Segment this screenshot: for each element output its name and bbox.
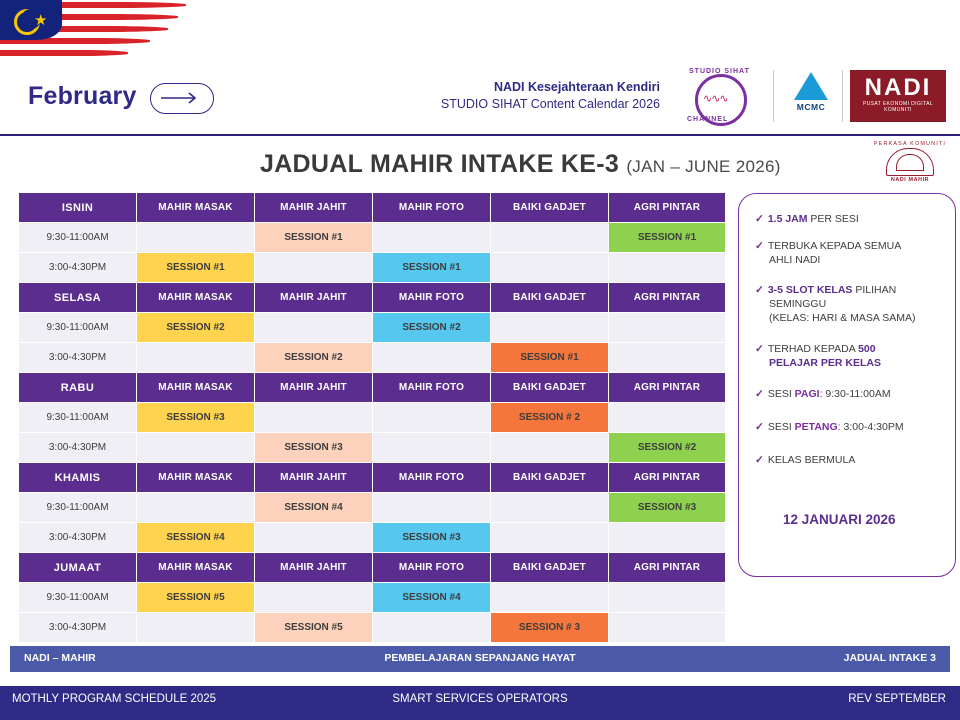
column-header-cell: MAHIR JAHIT xyxy=(255,463,373,493)
column-header-cell: BAIKI GADJET xyxy=(491,553,609,583)
empty-cell xyxy=(137,433,255,463)
empty-cell xyxy=(255,253,373,283)
time-cell: 3:00-4:30PM xyxy=(19,613,137,643)
header-title-line1: NADI Kesejahteraan Kendiri xyxy=(441,80,660,94)
day-header-cell: KHAMIS xyxy=(19,463,137,493)
pk-logo-bottom-text: NADI MAHIR xyxy=(868,177,952,183)
empty-cell xyxy=(373,433,491,463)
column-header-cell: MAHIR MASAK xyxy=(137,463,255,493)
bottom-status-bar: MOTHLY PROGRAM SCHEDULE 2025 SMART SERVI… xyxy=(0,686,960,720)
check-icon: ✓ xyxy=(755,343,764,355)
time-cell: 9:30-11:00AM xyxy=(19,403,137,433)
column-header-cell: MAHIR FOTO xyxy=(373,463,491,493)
slide-footer-mid: PEMBELAJARAN SEPANJANG HAYAT xyxy=(10,652,950,664)
column-header-cell: MAHIR FOTO xyxy=(373,193,491,223)
column-header-cell: BAIKI GADJET xyxy=(491,283,609,313)
session-cell[interactable]: SESSION #3 xyxy=(137,403,255,433)
empty-cell xyxy=(609,313,726,343)
column-header-cell: AGRI PINTAR xyxy=(609,193,726,223)
session-cell[interactable]: SESSION #3 xyxy=(373,523,491,553)
table-row: 9:30-11:00AMSESSION #4SESSION #3 xyxy=(19,493,726,523)
session-cell[interactable]: SESSION # 2 xyxy=(491,403,609,433)
column-header-cell: MAHIR FOTO xyxy=(373,373,491,403)
table-row: SELASAMAHIR MASAKMAHIR JAHITMAHIR FOTOBA… xyxy=(19,283,726,313)
session-cell[interactable]: SESSION #1 xyxy=(609,223,726,253)
empty-cell xyxy=(255,313,373,343)
empty-cell xyxy=(491,493,609,523)
note-item-2: ✓3-5 SLOT KELAS PILIHANSEMINGGU(KELAS: H… xyxy=(755,283,951,325)
session-cell[interactable]: SESSION #1 xyxy=(373,253,491,283)
next-month-button[interactable] xyxy=(150,83,214,114)
table-row: ISNINMAHIR MASAKMAHIR JAHITMAHIR FOTOBAI… xyxy=(19,193,726,223)
empty-cell xyxy=(255,523,373,553)
empty-cell xyxy=(137,613,255,643)
check-icon: ✓ xyxy=(755,213,764,225)
session-cell[interactable]: SESSION #3 xyxy=(255,433,373,463)
time-cell: 9:30-11:00AM xyxy=(19,493,137,523)
table-row: 9:30-11:00AMSESSION #3SESSION # 2 xyxy=(19,403,726,433)
session-cell[interactable]: SESSION #2 xyxy=(609,433,726,463)
studio-logo-bottom-text: CHANNEL xyxy=(687,116,728,123)
empty-cell xyxy=(373,493,491,523)
column-header-cell: AGRI PINTAR xyxy=(609,553,726,583)
slide-title: JADUAL MAHIR INTAKE KE-3 (JAN – JUNE 202… xyxy=(260,150,781,179)
logo-divider-2 xyxy=(842,70,843,122)
bottom-bar-mid: SMART SERVICES OPERATORS xyxy=(0,693,960,705)
perkasa-komuniti-logo: PERKASA KOMUNITI NADI MAHIR xyxy=(868,141,952,193)
check-icon: ✓ xyxy=(755,388,764,400)
column-header-cell: MAHIR JAHIT xyxy=(255,193,373,223)
table-row: 3:00-4:30PMSESSION #2SESSION #1 xyxy=(19,343,726,373)
time-cell: 3:00-4:30PM xyxy=(19,523,137,553)
time-cell: 3:00-4:30PM xyxy=(19,433,137,463)
column-header-cell: MAHIR MASAK xyxy=(137,373,255,403)
slide-title-sub: (JAN – JUNE 2026) xyxy=(626,157,780,176)
column-header-cell: MAHIR FOTO xyxy=(373,283,491,313)
mcmc-triangle-icon xyxy=(794,72,828,100)
empty-cell xyxy=(373,613,491,643)
time-cell: 3:00-4:30PM xyxy=(19,343,137,373)
check-icon: ✓ xyxy=(755,240,764,252)
session-cell[interactable]: SESSION #5 xyxy=(137,583,255,613)
empty-cell xyxy=(373,223,491,253)
note-item-4: ✓SESI PAGI: 9:30-11:00AM xyxy=(755,387,951,401)
column-header-cell: BAIKI GADJET xyxy=(491,193,609,223)
column-header-cell: AGRI PINTAR xyxy=(609,463,726,493)
session-cell[interactable]: SESSION #1 xyxy=(491,343,609,373)
column-header-cell: MAHIR MASAK xyxy=(137,193,255,223)
malaysia-flag-icon: ★ xyxy=(0,0,190,62)
note-item-6: ✓KELAS BERMULA xyxy=(755,453,951,467)
column-header-cell: MAHIR JAHIT xyxy=(255,373,373,403)
empty-cell xyxy=(137,493,255,523)
table-row: 3:00-4:30PMSESSION #5SESSION # 3 xyxy=(19,613,726,643)
slide-page: ★ February NADI Kesejahteraan Kendiri ST… xyxy=(0,0,960,720)
empty-cell xyxy=(491,223,609,253)
nadi-logo-main: NADI xyxy=(850,76,946,100)
empty-cell xyxy=(491,253,609,283)
session-cell[interactable]: SESSION #1 xyxy=(255,223,373,253)
empty-cell xyxy=(137,343,255,373)
table-row: RABUMAHIR MASAKMAHIR JAHITMAHIR FOTOBAIK… xyxy=(19,373,726,403)
column-header-cell: BAIKI GADJET xyxy=(491,373,609,403)
empty-cell xyxy=(137,223,255,253)
notes-card: ✓1.5 JAM PER SESI ✓TERBUKA KEPADA SEMUAA… xyxy=(738,193,956,577)
table-row: KHAMISMAHIR MASAKMAHIR JAHITMAHIR FOTOBA… xyxy=(19,463,726,493)
check-icon: ✓ xyxy=(755,454,764,466)
table-row: 9:30-11:00AMSESSION #2SESSION #2 xyxy=(19,313,726,343)
session-cell[interactable]: SESSION #4 xyxy=(137,523,255,553)
month-label: February xyxy=(28,82,137,111)
mcmc-logo: MCMC xyxy=(782,72,840,122)
note-item-5: ✓SESI PETANG: 3:00-4:30PM xyxy=(755,420,951,434)
studio-sihat-logo: STUDIO SIHAT ∿∿∿ CHANNEL xyxy=(683,68,767,124)
slide-footer: NADI – MAHIR PEMBELAJARAN SEPANJANG HAYA… xyxy=(10,646,950,672)
table-row: 3:00-4:30PMSESSION #4SESSION #3 xyxy=(19,523,726,553)
time-cell: 9:30-11:00AM xyxy=(19,583,137,613)
slide-footer-right: JADUAL INTAKE 3 xyxy=(844,652,936,664)
empty-cell xyxy=(609,523,726,553)
arrow-right-icon xyxy=(161,90,203,106)
day-header-cell: RABU xyxy=(19,373,137,403)
heartbeat-icon: ∿∿∿ xyxy=(703,92,728,105)
note-item-3: ✓TERHAD KEPADA 500PELAJAR PER KELAS xyxy=(755,342,951,370)
empty-cell xyxy=(255,583,373,613)
empty-cell xyxy=(609,343,726,373)
session-cell[interactable]: SESSION #2 xyxy=(255,343,373,373)
bottom-bar-right: REV SEPTEMBER xyxy=(848,693,946,705)
session-cell[interactable]: SESSION #5 xyxy=(255,613,373,643)
session-cell[interactable]: SESSION #4 xyxy=(373,583,491,613)
session-cell[interactable]: SESSION #4 xyxy=(255,493,373,523)
time-cell: 3:00-4:30PM xyxy=(19,253,137,283)
header-title: NADI Kesejahteraan Kendiri STUDIO SIHAT … xyxy=(441,80,660,111)
nadi-logo-sub: PUSAT EKONOMI DIGITAL KOMUNITI xyxy=(850,101,946,113)
check-icon: ✓ xyxy=(755,284,764,296)
empty-cell xyxy=(609,253,726,283)
slide-title-main: JADUAL MAHIR INTAKE KE-3 xyxy=(260,150,619,178)
time-cell: 9:30-11:00AM xyxy=(19,223,137,253)
table-row: 3:00-4:30PMSESSION #3SESSION #2 xyxy=(19,433,726,463)
column-header-cell: MAHIR JAHIT xyxy=(255,283,373,313)
day-header-cell: ISNIN xyxy=(19,193,137,223)
table-row: 3:00-4:30PMSESSION #1SESSION #1 xyxy=(19,253,726,283)
check-icon: ✓ xyxy=(755,421,764,433)
empty-cell xyxy=(609,583,726,613)
table-row: 9:30-11:00AMSESSION #5SESSION #4 xyxy=(19,583,726,613)
logo-divider-1 xyxy=(773,70,774,122)
pk-logo-top-text: PERKASA KOMUNITI xyxy=(868,141,952,147)
header-title-line2: STUDIO SIHAT Content Calendar 2026 xyxy=(441,97,660,111)
empty-cell xyxy=(609,403,726,433)
empty-cell xyxy=(491,583,609,613)
session-cell[interactable]: SESSION #3 xyxy=(609,493,726,523)
empty-cell xyxy=(373,403,491,433)
note-item-1: ✓TERBUKA KEPADA SEMUAAHLI NADI xyxy=(755,239,945,267)
schedule-table-body: ISNINMAHIR MASAKMAHIR JAHITMAHIR FOTOBAI… xyxy=(19,193,726,643)
column-header-cell: MAHIR FOTO xyxy=(373,553,491,583)
column-header-cell: MAHIR MASAK xyxy=(137,283,255,313)
table-row: 9:30-11:00AMSESSION #1SESSION #1 xyxy=(19,223,726,253)
nadi-logo: NADI PUSAT EKONOMI DIGITAL KOMUNITI xyxy=(850,70,946,122)
session-cell[interactable]: SESSION # 3 xyxy=(491,613,609,643)
day-header-cell: SELASA xyxy=(19,283,137,313)
empty-cell xyxy=(491,523,609,553)
empty-cell xyxy=(491,313,609,343)
empty-cell xyxy=(373,343,491,373)
empty-cell xyxy=(609,613,726,643)
session-cell[interactable]: SESSION #2 xyxy=(137,313,255,343)
note-item-0: ✓1.5 JAM PER SESI xyxy=(755,212,945,226)
column-header-cell: MAHIR MASAK xyxy=(137,553,255,583)
flag-star-icon: ★ xyxy=(34,13,47,28)
session-cell[interactable]: SESSION #1 xyxy=(137,253,255,283)
mcmc-logo-label: MCMC xyxy=(782,102,840,112)
table-row: JUMAATMAHIR MASAKMAHIR JAHITMAHIR FOTOBA… xyxy=(19,553,726,583)
session-cell[interactable]: SESSION #2 xyxy=(373,313,491,343)
empty-cell xyxy=(255,403,373,433)
top-banner: ★ xyxy=(0,0,960,62)
column-header-cell: MAHIR JAHIT xyxy=(255,553,373,583)
column-header-cell: AGRI PINTAR xyxy=(609,283,726,313)
slide-canvas: JADUAL MAHIR INTAKE KE-3 (JAN – JUNE 202… xyxy=(10,136,950,676)
column-header-cell: AGRI PINTAR xyxy=(609,373,726,403)
time-cell: 9:30-11:00AM xyxy=(19,313,137,343)
pk-logo-arch-icon xyxy=(886,148,934,176)
day-header-cell: JUMAAT xyxy=(19,553,137,583)
schedule-table: ISNINMAHIR MASAKMAHIR JAHITMAHIR FOTOBAI… xyxy=(18,192,726,643)
column-header-cell: BAIKI GADJET xyxy=(491,463,609,493)
empty-cell xyxy=(491,433,609,463)
note-start-date: 12 JANUARI 2026 xyxy=(783,512,896,527)
